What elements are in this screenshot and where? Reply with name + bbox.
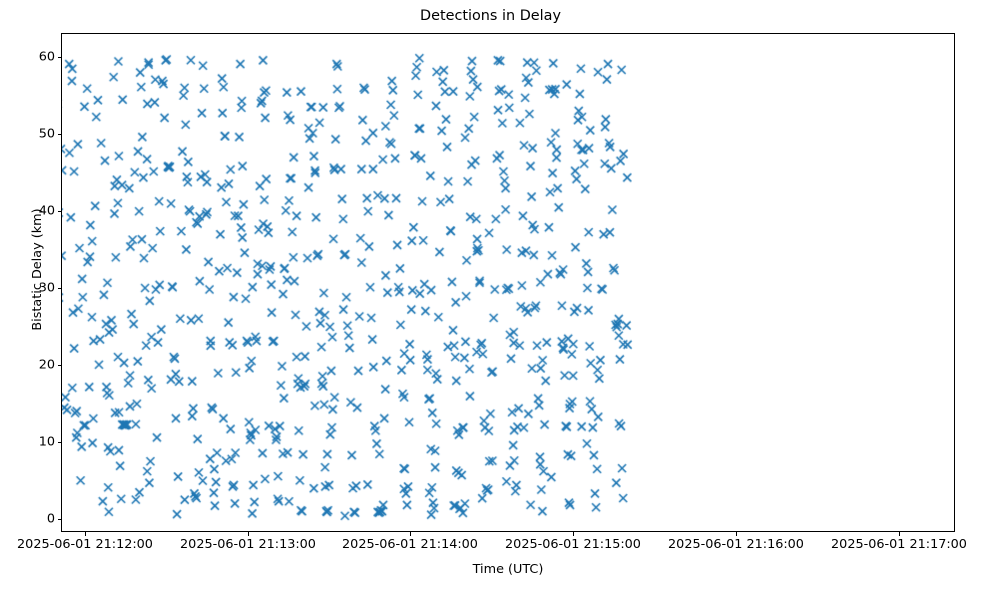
y-axis-label: Bistatic Delay (km) xyxy=(30,20,45,519)
scatter-plot-canvas xyxy=(62,34,954,531)
ytick-mark-0 xyxy=(58,519,62,520)
ytick-mark-4 xyxy=(58,211,62,212)
xtick-mark-3 xyxy=(573,532,574,536)
ytick-mark-6 xyxy=(58,57,62,58)
ytick-mark-3 xyxy=(58,288,62,289)
xtick-mark-5 xyxy=(899,532,900,536)
xtick-mark-2 xyxy=(410,532,411,536)
xtick-label-1: 2025-06-01 21:13:00 xyxy=(180,537,316,552)
xtick-label-5: 2025-06-01 21:17:00 xyxy=(831,537,967,552)
page-title: Detections in Delay xyxy=(0,8,981,24)
xtick-mark-4 xyxy=(736,532,737,536)
xtick-mark-0 xyxy=(85,532,86,536)
matplotlib-figure: Detections in Delay 2025-06-01 21:12:00 … xyxy=(0,0,981,590)
xtick-label-0: 2025-06-01 21:12:00 xyxy=(17,537,153,552)
ytick-mark-1 xyxy=(58,442,62,443)
x-axis-label: Time (UTC) xyxy=(61,562,955,577)
ytick-label-0: 0 xyxy=(47,512,55,527)
xtick-label-3: 2025-06-01 21:15:00 xyxy=(505,537,641,552)
xtick-label-2: 2025-06-01 21:14:00 xyxy=(342,537,478,552)
ytick-mark-5 xyxy=(58,134,62,135)
xtick-label-4: 2025-06-01 21:16:00 xyxy=(668,537,804,552)
ytick-mark-2 xyxy=(58,365,62,366)
plot-axes xyxy=(61,33,955,532)
xtick-mark-1 xyxy=(248,532,249,536)
